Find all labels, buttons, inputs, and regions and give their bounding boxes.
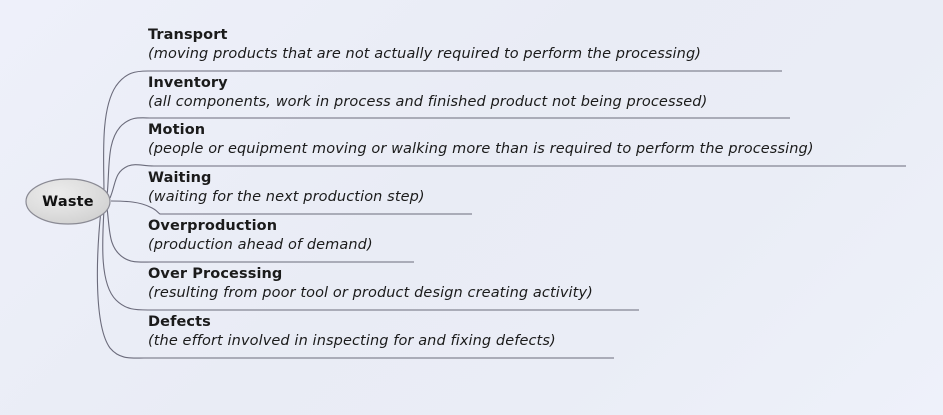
branch-description: (waiting for the next production step) (148, 188, 425, 207)
branch-title: Over Processing (148, 265, 593, 284)
branch-description: (all components, work in process and fin… (148, 93, 707, 112)
branch-description: (the effort involved in inspecting for a… (148, 332, 556, 351)
branch-title: Transport (148, 26, 701, 45)
branch-inventory[interactable]: Inventory (all components, work in proce… (148, 74, 707, 112)
branch-defects[interactable]: Defects (the effort involved in inspecti… (148, 313, 556, 351)
branch-overproduction[interactable]: Overproduction (production ahead of dema… (148, 217, 373, 255)
branch-over-processing[interactable]: Over Processing (resulting from poor too… (148, 265, 593, 303)
branch-title: Motion (148, 121, 814, 140)
branch-waiting[interactable]: Waiting (waiting for the next production… (148, 169, 425, 207)
branch-motion[interactable]: Motion (people or equipment moving or wa… (148, 121, 814, 159)
branch-title: Overproduction (148, 217, 373, 236)
branch-description: (resulting from poor tool or product des… (148, 284, 593, 303)
branch-transport[interactable]: Transport (moving products that are not … (148, 26, 701, 64)
branch-description: (production ahead of demand) (148, 236, 373, 255)
branch-title: Inventory (148, 74, 707, 93)
branch-title: Defects (148, 313, 556, 332)
branch-description: (people or equipment moving or walking m… (148, 140, 814, 159)
mind-map-diagram: Waste Transport (moving products that ar… (0, 0, 943, 415)
branch-title: Waiting (148, 169, 425, 188)
center-node[interactable]: Waste (26, 179, 110, 224)
center-node-label: Waste (26, 179, 110, 224)
branch-description: (moving products that are not actually r… (148, 45, 701, 64)
